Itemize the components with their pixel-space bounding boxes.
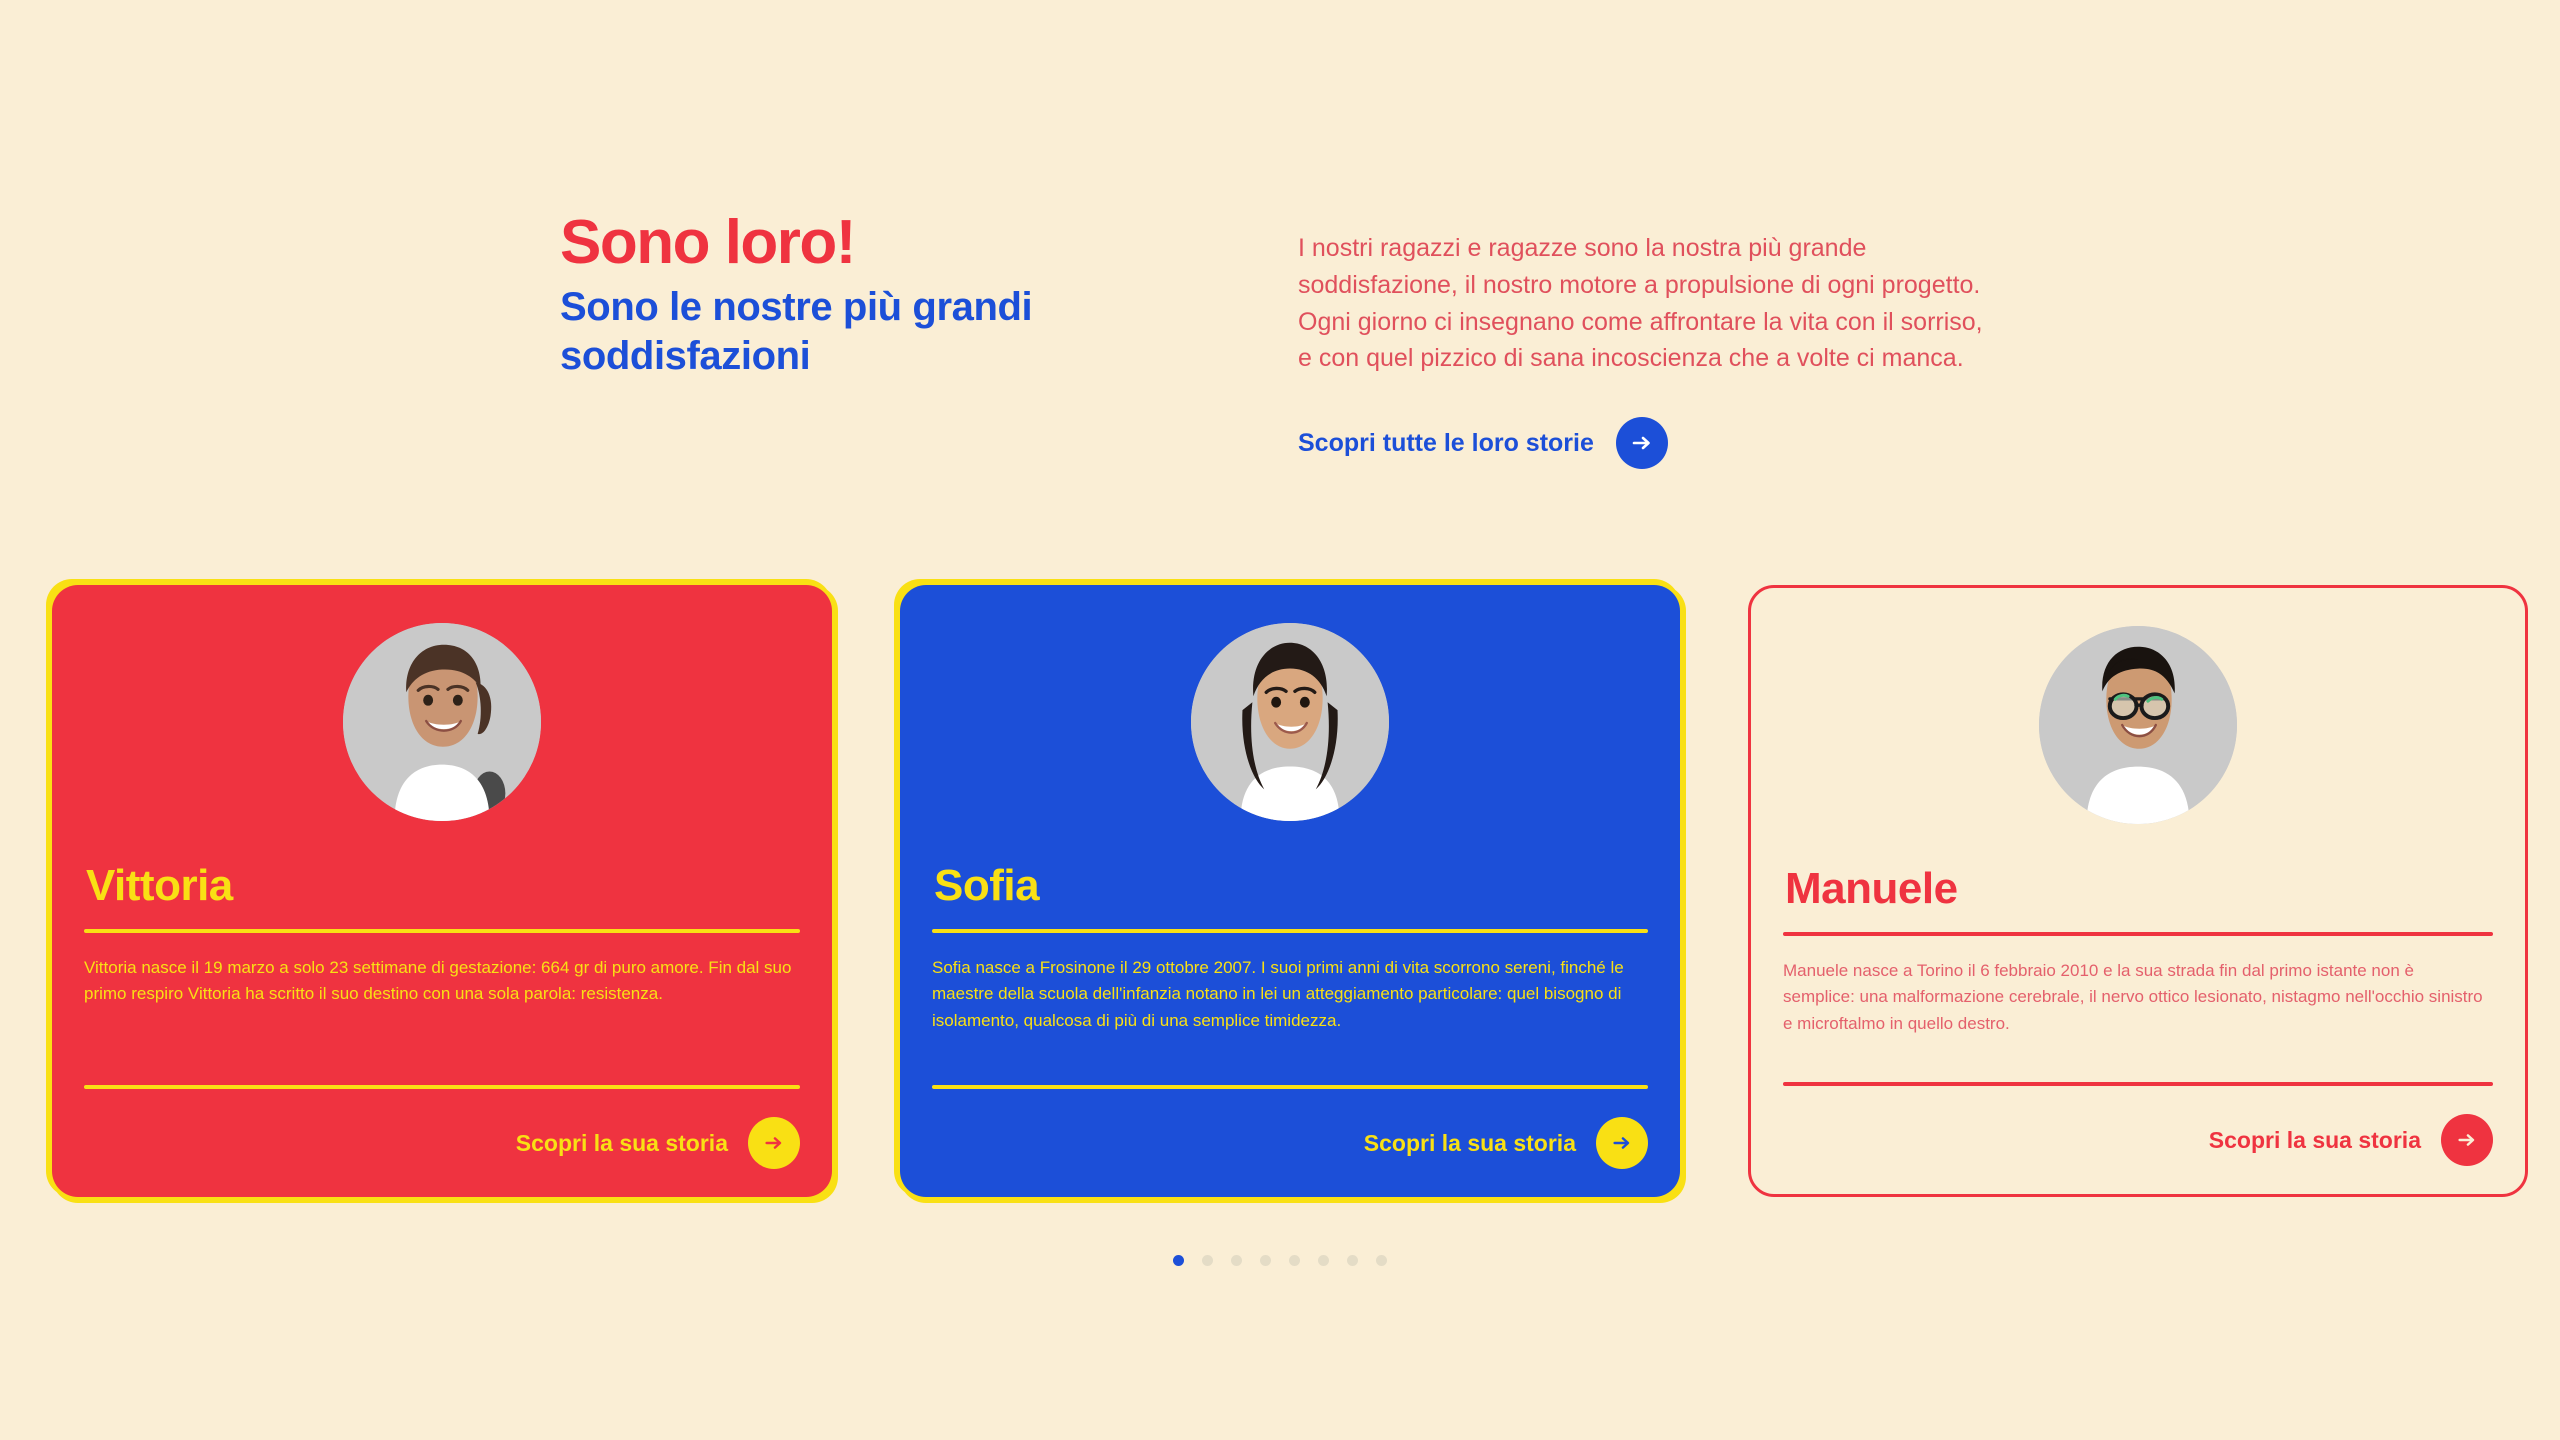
divider-top bbox=[84, 929, 800, 933]
story-card-body: Sofia nasce a Frosinone il 29 ottobre 20… bbox=[932, 955, 1648, 1034]
intro-text-block: I nostri ragazzi e ragazze sono la nostr… bbox=[1298, 230, 1988, 469]
story-card-body: Manuele nasce a Torino il 6 febbraio 201… bbox=[1783, 958, 2493, 1037]
divider-top bbox=[932, 929, 1648, 933]
page-subtitle: Sono le nostre più grandi soddisfazioni bbox=[560, 283, 1160, 381]
story-card-body: Vittoria nasce il 19 marzo a solo 23 set… bbox=[84, 955, 800, 1008]
discover-story-label: Scopri la sua storia bbox=[2209, 1127, 2421, 1154]
arrow-right-icon bbox=[748, 1117, 800, 1169]
pagination-dot[interactable] bbox=[1318, 1255, 1329, 1266]
intro-heading-block: Sono loro! Sono le nostre più grandi sod… bbox=[560, 210, 1200, 381]
story-card[interactable]: Manuele Manuele nasce a Torino il 6 febb… bbox=[1748, 585, 2528, 1197]
intro-paragraph: I nostri ragazzi e ragazze sono la nostr… bbox=[1298, 230, 1988, 377]
discover-story-label: Scopri la sua storia bbox=[1364, 1130, 1576, 1157]
arrow-right-icon bbox=[1616, 417, 1668, 469]
avatar bbox=[2039, 626, 2237, 824]
pagination-dot[interactable] bbox=[1173, 1255, 1184, 1266]
pagination-dot[interactable] bbox=[1202, 1255, 1213, 1266]
avatar bbox=[1191, 623, 1389, 821]
stories-carousel: Vittoria Vittoria nasce il 19 marzo a so… bbox=[0, 585, 2560, 1205]
story-card[interactable]: Vittoria Vittoria nasce il 19 marzo a so… bbox=[52, 585, 832, 1197]
discover-story-link[interactable]: Scopri la sua storia bbox=[1783, 1086, 2493, 1194]
pagination-dot[interactable] bbox=[1231, 1255, 1242, 1266]
story-card-name: Manuele bbox=[1785, 864, 2493, 914]
discover-all-stories-label: Scopri tutte le loro storie bbox=[1298, 429, 1594, 458]
discover-story-link[interactable]: Scopri la sua storia bbox=[932, 1089, 1648, 1197]
carousel-track: Vittoria Vittoria nasce il 19 marzo a so… bbox=[52, 585, 2528, 1197]
arrow-right-icon bbox=[2441, 1114, 2493, 1166]
pagination-dot[interactable] bbox=[1289, 1255, 1300, 1266]
pagination-dot[interactable] bbox=[1376, 1255, 1387, 1266]
pagination-dot[interactable] bbox=[1347, 1255, 1358, 1266]
arrow-right-icon bbox=[1596, 1117, 1648, 1169]
discover-story-label: Scopri la sua storia bbox=[516, 1130, 728, 1157]
page-title: Sono loro! bbox=[560, 210, 1200, 275]
carousel-pagination bbox=[0, 1255, 2560, 1266]
pagination-dot[interactable] bbox=[1260, 1255, 1271, 1266]
avatar bbox=[343, 623, 541, 821]
story-card-name: Vittoria bbox=[86, 861, 800, 911]
story-card[interactable]: Sofia Sofia nasce a Frosinone il 29 otto… bbox=[900, 585, 1680, 1197]
story-card-name: Sofia bbox=[934, 861, 1648, 911]
intro-section: Sono loro! Sono le nostre più grandi sod… bbox=[0, 210, 2560, 490]
discover-story-link[interactable]: Scopri la sua storia bbox=[84, 1089, 800, 1197]
divider-top bbox=[1783, 932, 2493, 936]
discover-all-stories-link[interactable]: Scopri tutte le loro storie bbox=[1298, 417, 1668, 469]
